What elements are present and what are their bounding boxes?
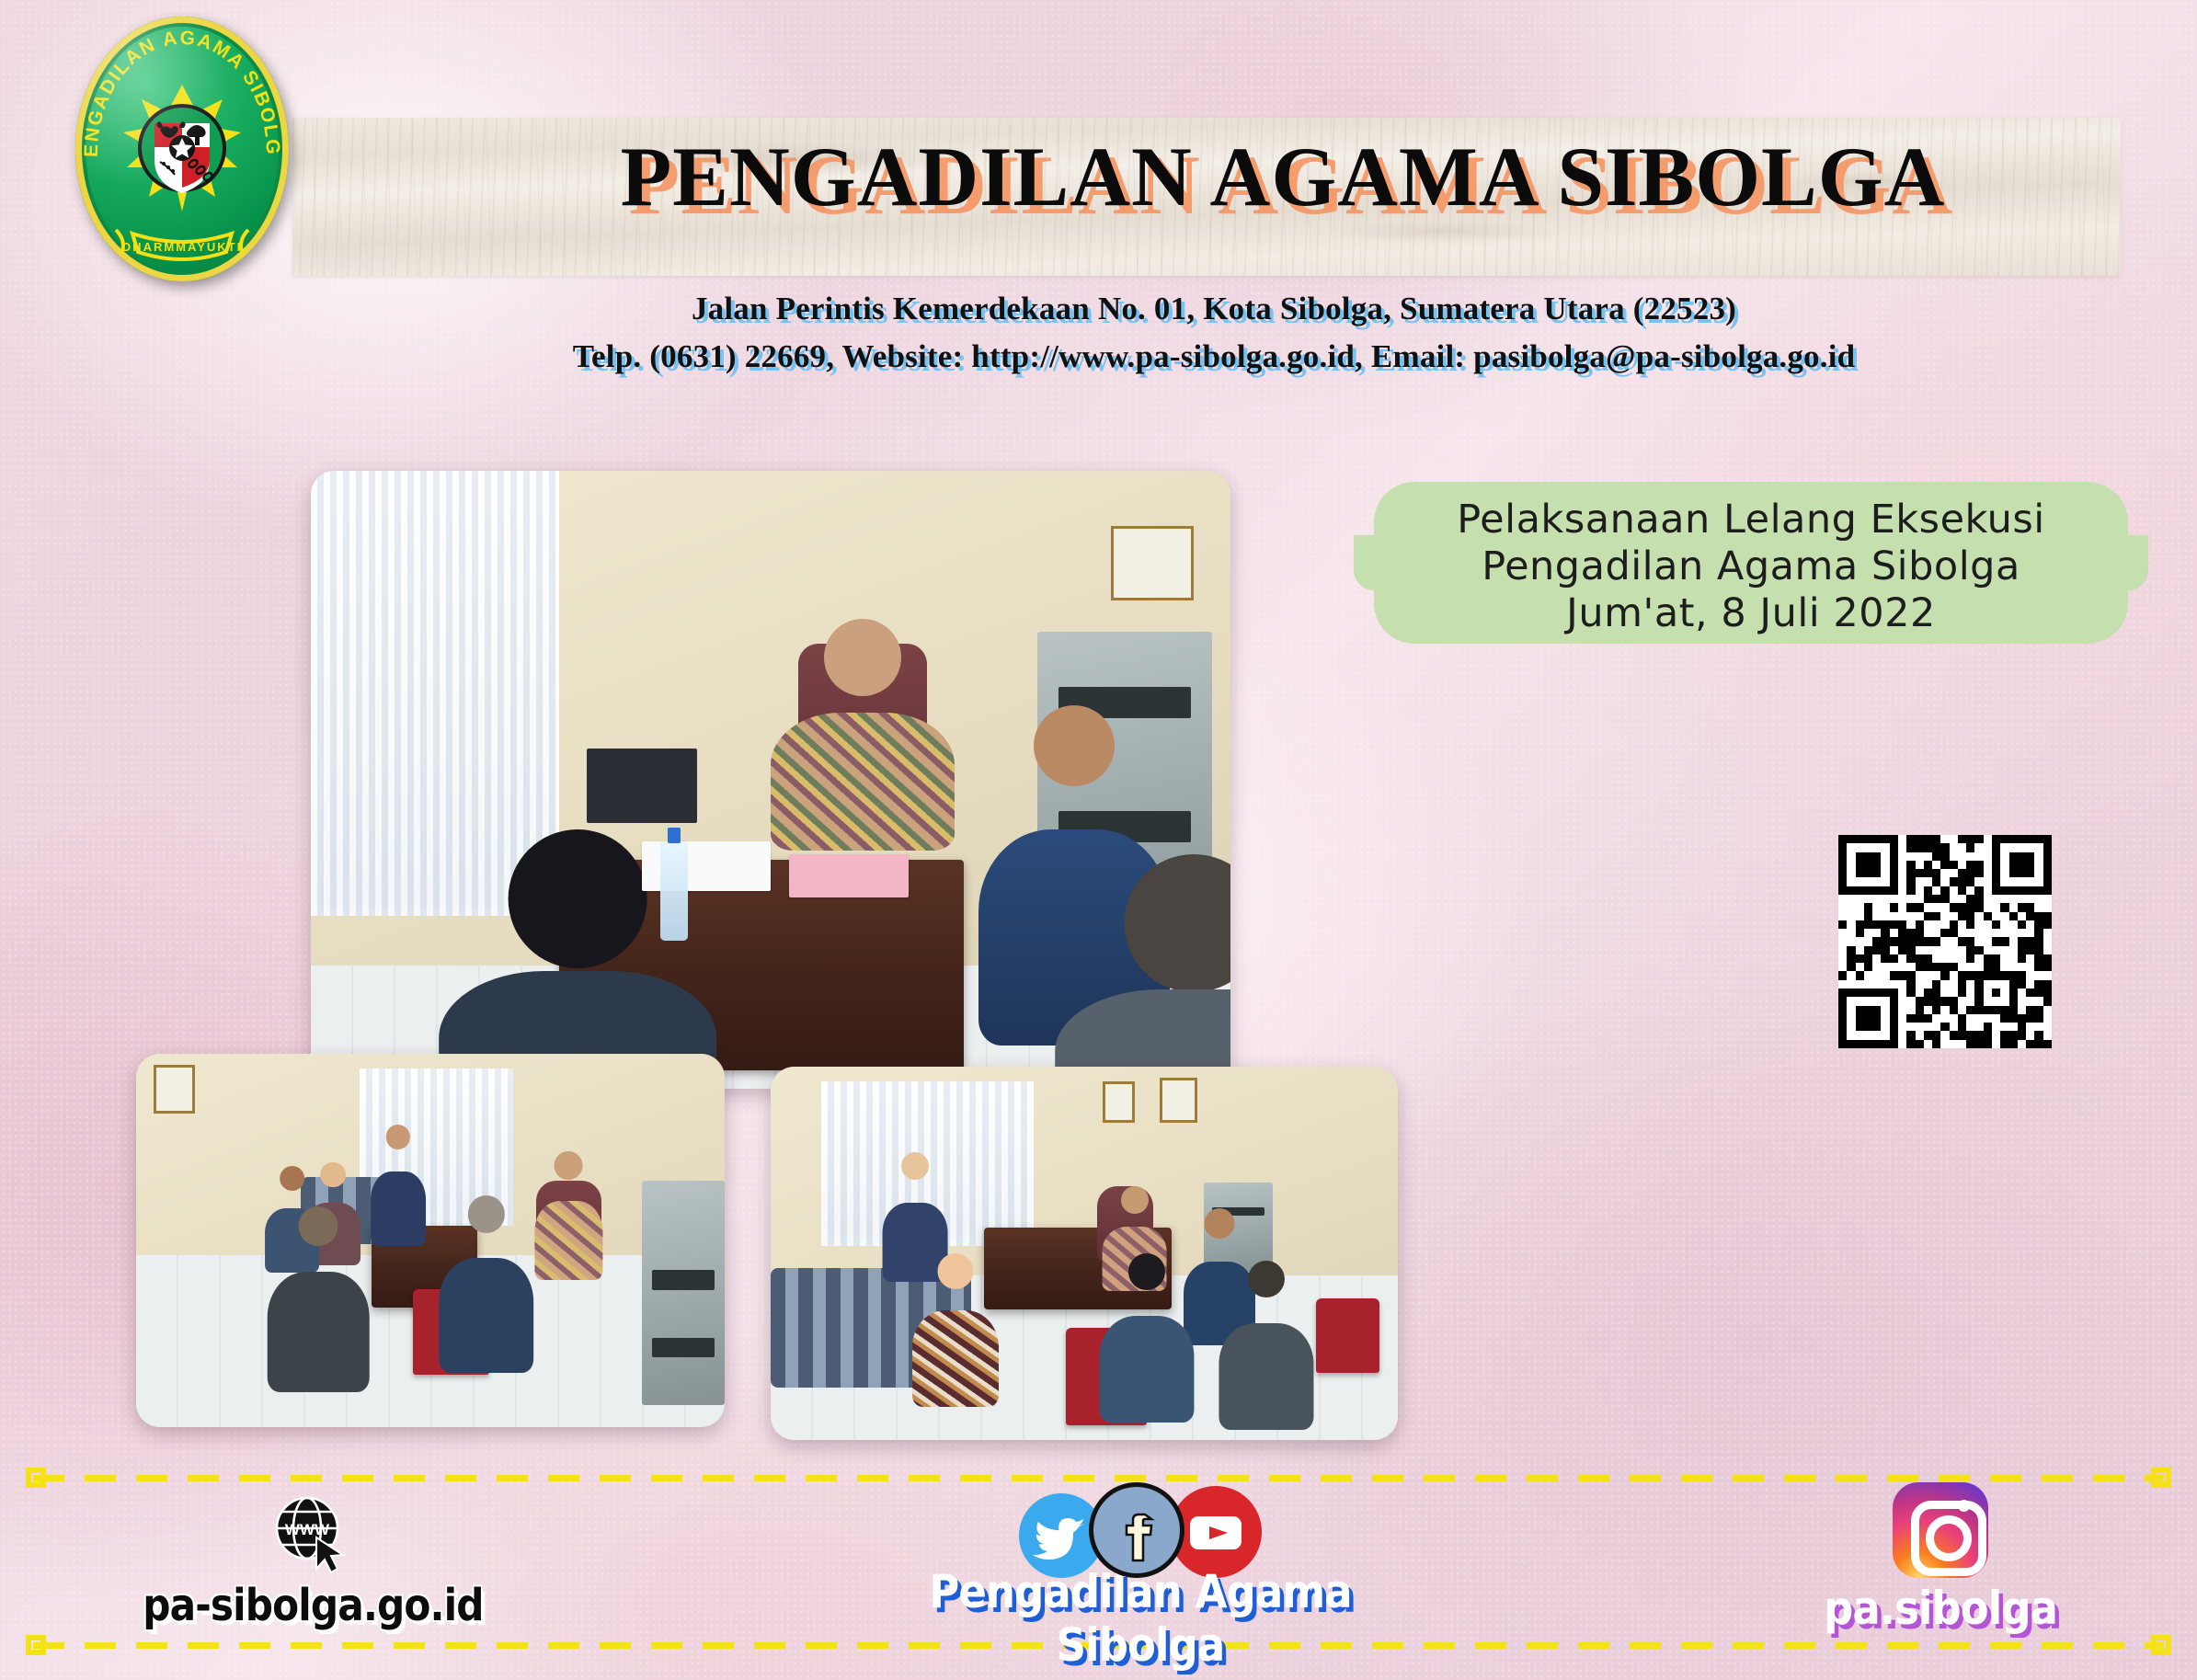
logo-ribbon: DHARMMAYUKTI	[116, 230, 248, 259]
page-title: PENGADILAN AGAMA SIBOLGA	[468, 132, 2098, 222]
footer-divider-top	[33, 1475, 2164, 1481]
globe-www-icon: WWW	[269, 1490, 357, 1578]
website-label[interactable]: pa-sibolga.go.id	[143, 1580, 483, 1631]
main-meeting-photo	[311, 471, 1230, 1089]
footer-website-block[interactable]: WWW pa-sibolga.go.id	[55, 1490, 570, 1631]
svg-text:WWW: WWW	[285, 1521, 330, 1538]
footer-social-block[interactable]: Pengadilan Agama Sibolga	[809, 1482, 1471, 1672]
social-label[interactable]: Pengadilan Agama Sibolga	[842, 1565, 1438, 1672]
instagram-label[interactable]: pa.sibolga	[1824, 1582, 2057, 1635]
instagram-icon[interactable]	[1893, 1482, 1988, 1578]
event-caption-box: Pelaksanaan Lelang Eksekusi Pengadilan A…	[1374, 482, 2128, 644]
header-address-line-1: Jalan Perintis Kemerdekaan No. 01, Kota …	[395, 291, 2032, 327]
caption-line-1: Pelaksanaan Lelang Eksekusi	[1390, 497, 2111, 543]
corner-handle-top-left	[26, 1468, 46, 1488]
left-meeting-photo	[136, 1054, 725, 1427]
caption-line-3: Jum'at, 8 Juli 2022	[1390, 590, 2111, 637]
logo-ribbon-text: DHARMMAYUKTI	[122, 240, 242, 254]
qr-code[interactable]	[1838, 835, 2052, 1048]
header-address-line-2: Telp. (0631) 22669, Website: http://www.…	[395, 338, 2032, 375]
corner-handle-bottom-left	[26, 1635, 46, 1655]
court-logo: PENGADILAN AGAMA SIBOLGA DHARMMAYUKTI	[75, 17, 289, 281]
footer-instagram-block[interactable]: pa.sibolga	[1683, 1482, 2197, 1635]
corner-handle-bottom-right	[2151, 1635, 2171, 1655]
right-meeting-photo	[771, 1067, 1398, 1440]
caption-line-2: Pengadilan Agama Sibolga	[1390, 543, 2111, 590]
facebook-icon[interactable]	[1089, 1482, 1184, 1578]
